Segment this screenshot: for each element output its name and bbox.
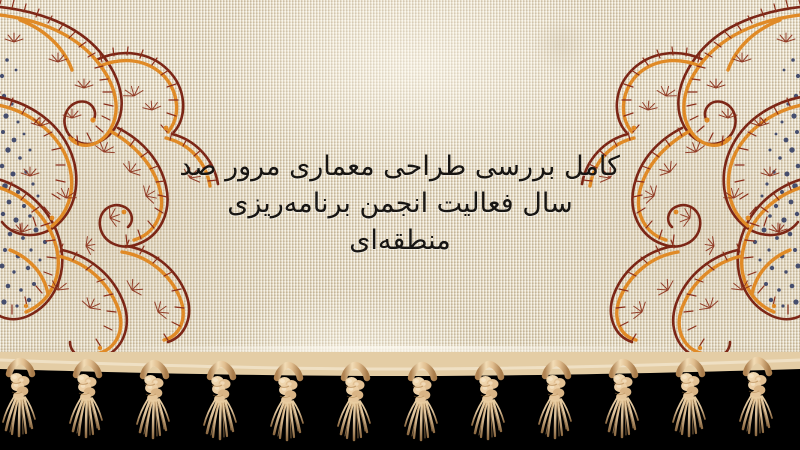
tassel-row [3, 360, 772, 440]
fringe-backdrop [0, 368, 800, 450]
title-line-1: کامل بررسی طراحی معماری مرور صد [180, 148, 620, 185]
title-line-3: منطقه‌ای [180, 222, 620, 259]
slide-title: کامل بررسی طراحی معماری مرور صد سال فعال… [180, 148, 620, 259]
fabric-hem-edge [0, 346, 800, 372]
title-slide: کامل بررسی طراحی معماری مرور صد سال فعال… [0, 0, 800, 450]
title-line-2: سال فعالیت انجمن برنامه‌ریزی [180, 185, 620, 222]
